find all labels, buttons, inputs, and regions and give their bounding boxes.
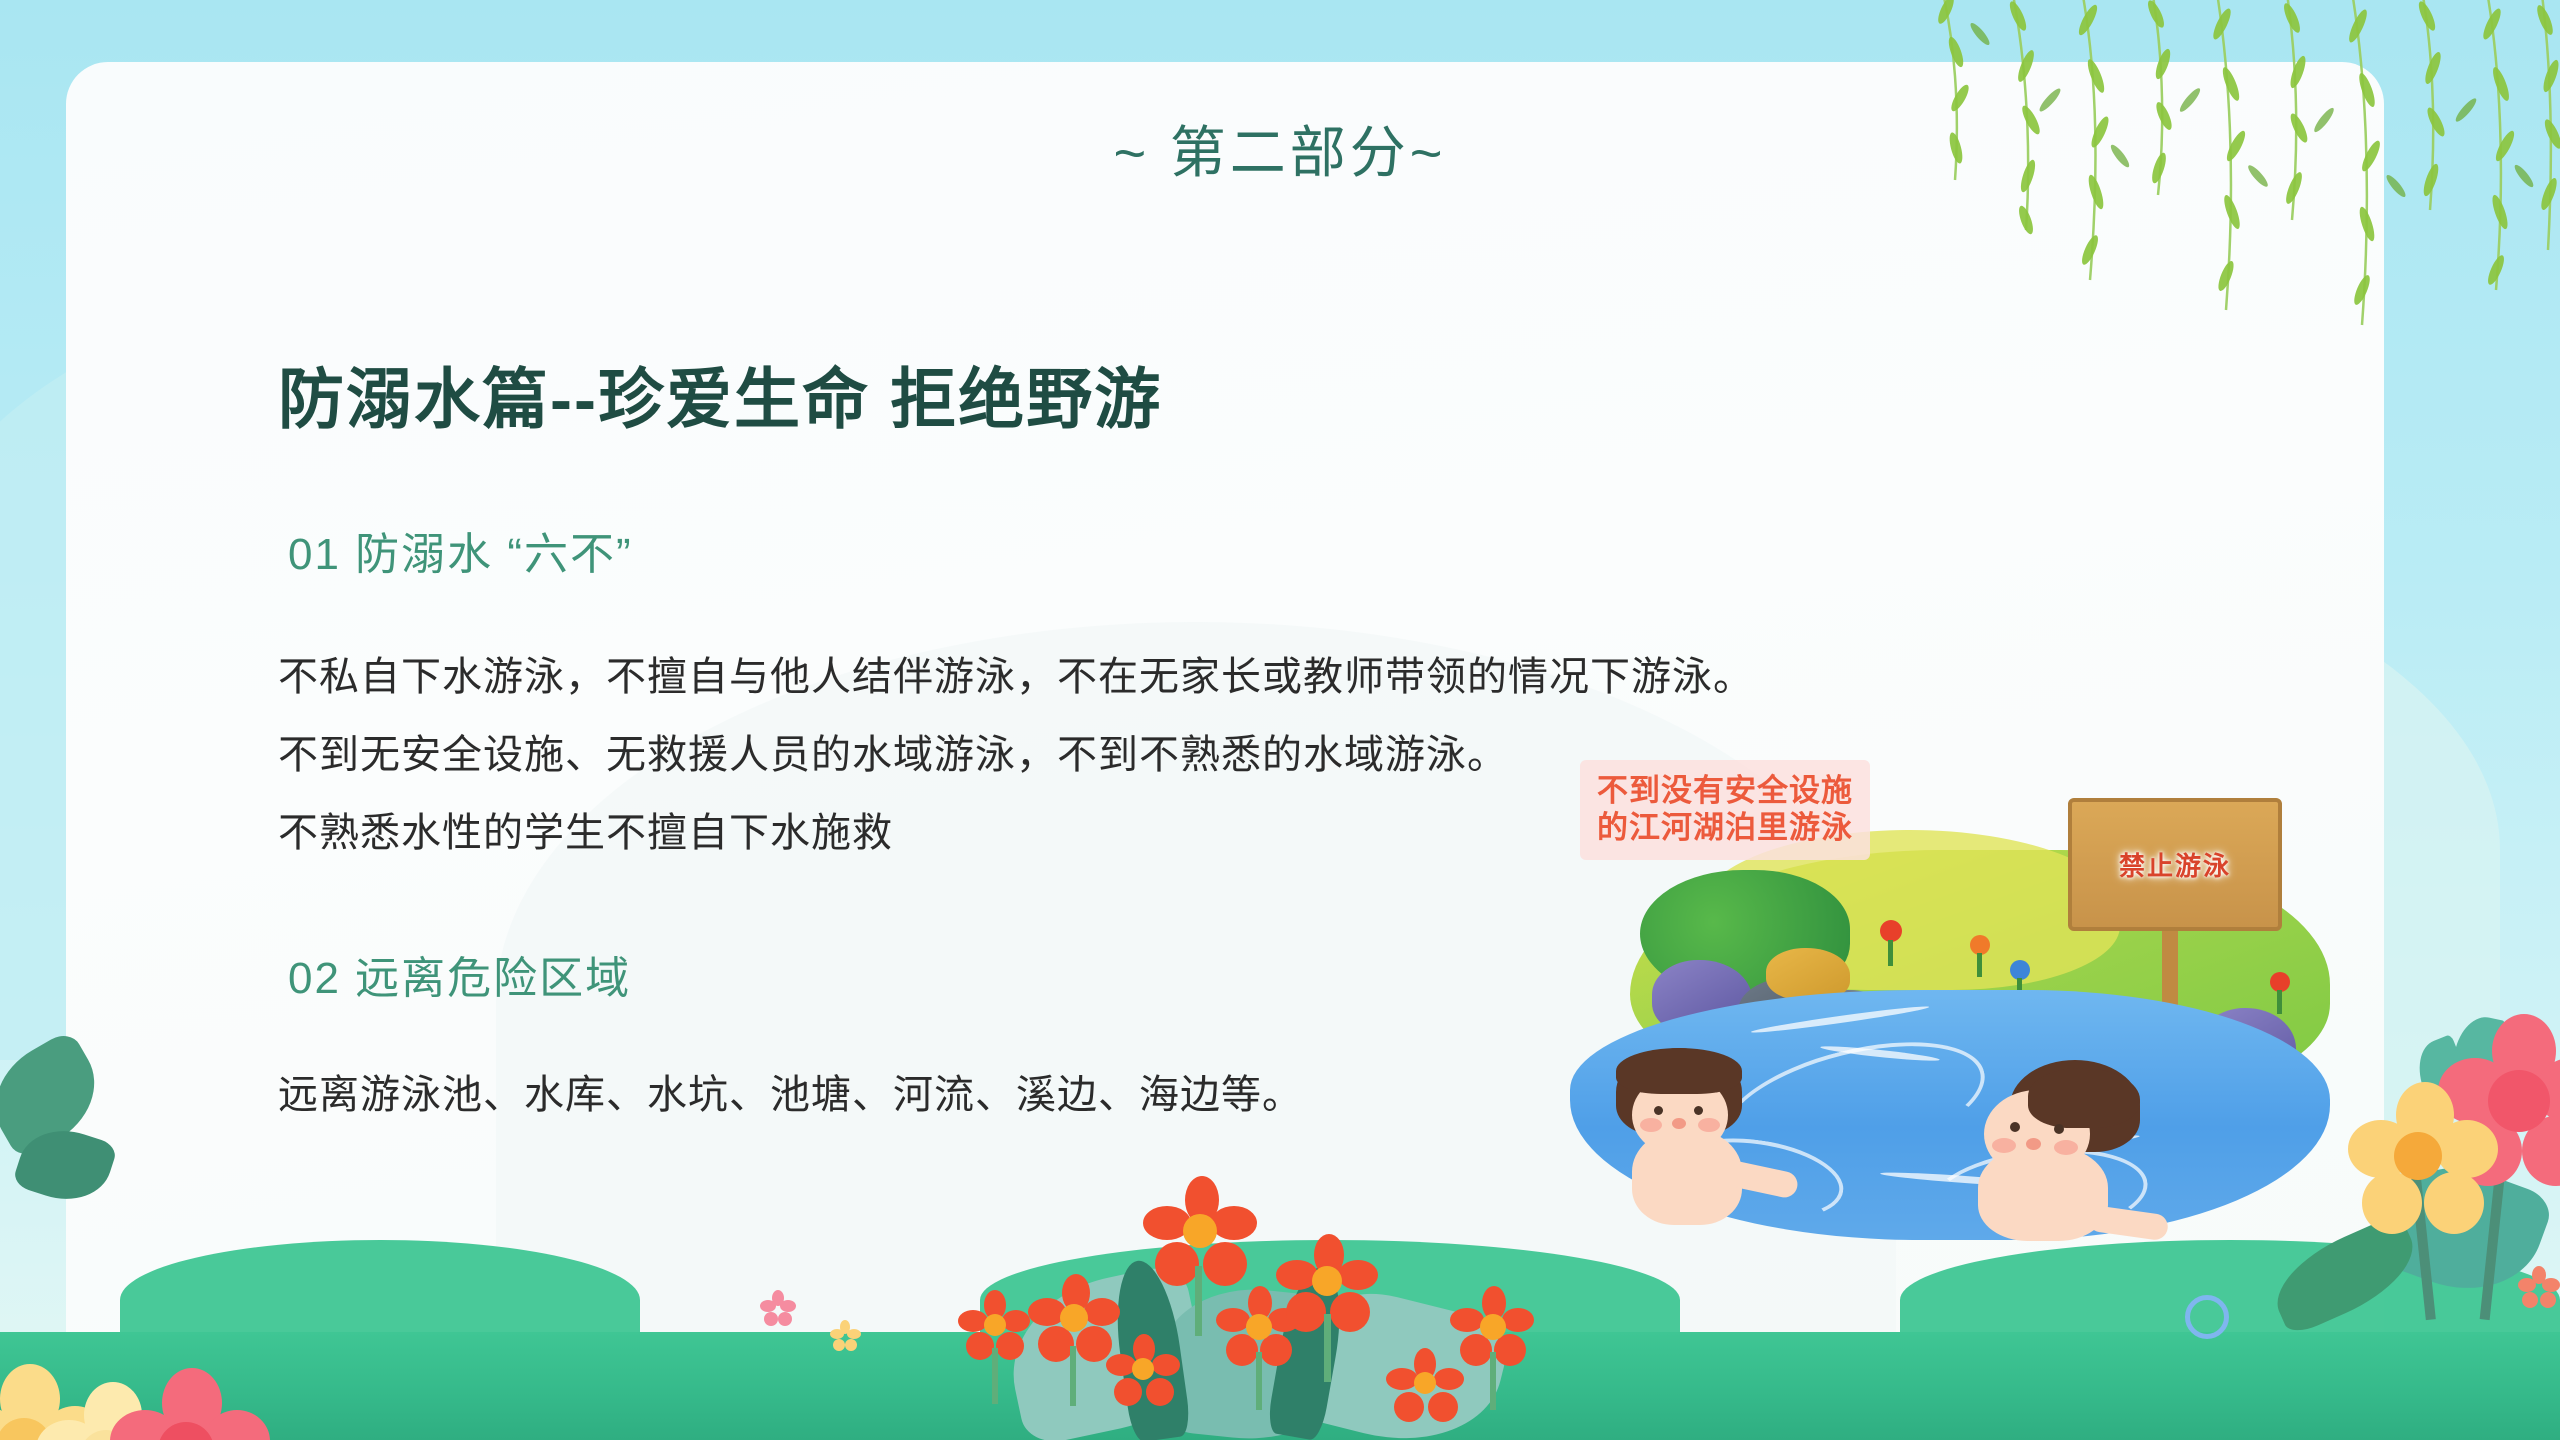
child-eye: [2054, 1124, 2064, 1134]
section-heading-02: 02 远离危险区域: [288, 942, 631, 1006]
section-01-line-1: 不私自下水游泳，不擅自与他人结伴游泳，不在无家长或教师带领的情况下游泳。: [278, 644, 1754, 702]
child-swimmer-left: [1610, 1048, 1810, 1238]
slide-canvas: ~ 第二部分~ 防溺水篇--珍爱生命 拒绝野游 01 防溺水 “六不” 不私自下…: [0, 0, 2560, 1440]
warning-line-2: 的江河湖泊里游泳: [1597, 810, 1853, 847]
child-cheek: [1698, 1118, 1720, 1132]
child-fringe: [1616, 1048, 1742, 1094]
flower-red: [1452, 1288, 1534, 1370]
flower-red: [1145, 1180, 1255, 1290]
child-cheek: [1992, 1138, 2016, 1153]
part-title: ~ 第二部分~: [0, 108, 2560, 189]
section-02-line-1: 远离游泳池、水库、水坑、池塘、河流、溪边、海边等。: [278, 1062, 1303, 1120]
flower-red-small: [1388, 1350, 1462, 1424]
sign-label: 禁止游泳: [2119, 846, 2231, 883]
no-swimming-sign: 禁止游泳: [2068, 798, 2282, 931]
section-01-line-2: 不到无安全设施、无救援人员的水域游泳，不到不熟悉的水域游泳。: [278, 722, 1508, 780]
child-swimmer-right: [1970, 1060, 2190, 1250]
child-nose: [1672, 1118, 1686, 1129]
child-fringe: [2028, 1068, 2140, 1128]
flower-red-small: [1108, 1336, 1180, 1408]
section-01-line-3: 不熟悉水性的学生不擅自下水施救: [278, 800, 893, 858]
child-cheek: [2054, 1140, 2078, 1155]
warning-line-1: 不到没有安全设施: [1597, 773, 1853, 810]
water-wave: [1750, 1004, 1929, 1036]
warning-banner: 不到没有安全设施 的江河湖泊里游泳: [1580, 760, 1870, 860]
child-nose: [2026, 1138, 2041, 1150]
flower-cluster-bottom-center: [900, 1170, 1560, 1440]
flower-red-small: [960, 1292, 1030, 1362]
child-cheek: [1640, 1118, 1662, 1132]
flower-red: [1030, 1276, 1120, 1366]
flower-cluster-bottom-right: [2250, 1010, 2560, 1340]
section-heading-01: 01 防溺水 “六不”: [288, 518, 633, 582]
child-arm: [2087, 1205, 2170, 1242]
child-eye: [1654, 1106, 1663, 1115]
child-eye: [1694, 1106, 1703, 1115]
child-eye: [2010, 1122, 2020, 1132]
flower-yellow-large: [2350, 1086, 2490, 1226]
flower-red: [1278, 1236, 1378, 1336]
page-title: 防溺水篇--珍爱生命 拒绝野游: [278, 346, 1162, 442]
flower-pink-large: [112, 1374, 262, 1440]
